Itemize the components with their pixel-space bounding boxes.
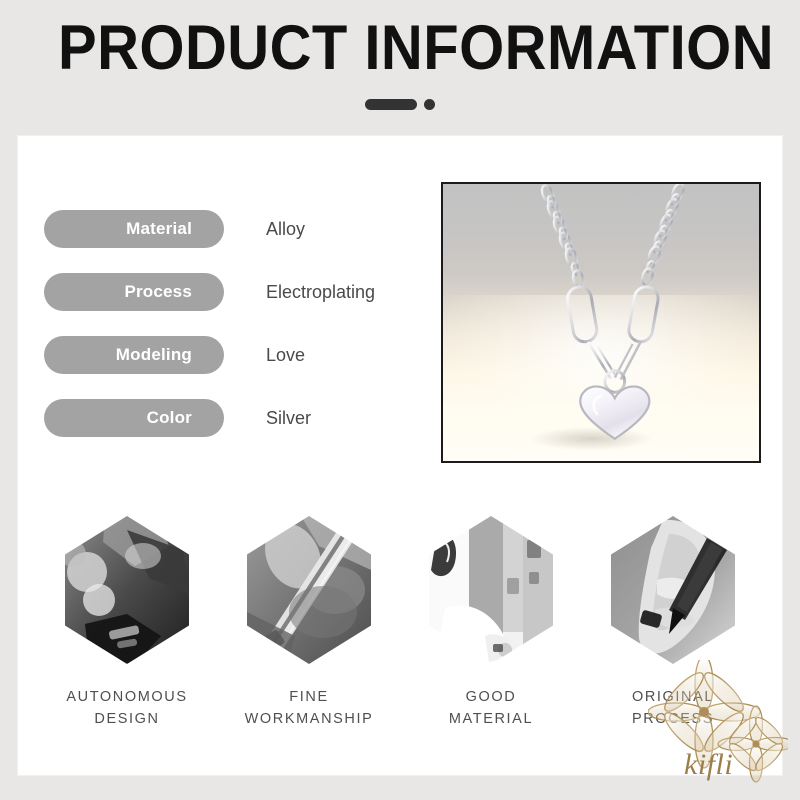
feature-caption-line1: AUTONOMOUS: [66, 686, 187, 708]
feature-caption: AUTONOMOUS DESIGN: [66, 686, 187, 730]
feature-caption: FINE WORKMANSHIP: [245, 686, 374, 730]
hex-original-process: [611, 516, 735, 664]
list-item: FINE WORKMANSHIP: [218, 516, 400, 730]
spec-table: Material Alloy Process Electroplating Mo…: [44, 210, 444, 437]
hand-engraving-pen-photo-icon: [611, 516, 735, 664]
spec-value-process: Electroplating: [266, 282, 375, 303]
page-title: PRODUCT INFORMATION: [58, 16, 774, 80]
feature-caption-line1: FINE: [245, 686, 374, 708]
spec-value-color: Silver: [266, 408, 311, 429]
feature-caption-line2: PROCESS: [632, 708, 714, 730]
table-row: Material Alloy: [44, 210, 444, 248]
spec-label-material: Material: [44, 210, 224, 248]
feature-caption-line1: GOOD: [449, 686, 533, 708]
feature-caption-line2: DESIGN: [66, 708, 187, 730]
feature-list: AUTONOMOUS DESIGN: [36, 516, 764, 730]
divider-bar: [365, 99, 417, 110]
spec-value-modeling: Love: [266, 345, 305, 366]
tweezers-polishing-photo-icon: [247, 516, 371, 664]
feature-caption-line1: ORIGINAL: [632, 686, 714, 708]
divider-dot: [424, 99, 435, 110]
title-divider: [0, 97, 800, 111]
list-item: AUTONOMOUS DESIGN: [36, 516, 218, 730]
jewelry-materials-photo-icon: [429, 516, 553, 664]
table-row: Process Electroplating: [44, 273, 444, 311]
necklace-illustration: [443, 184, 759, 461]
hex-good-material: [429, 516, 553, 664]
feature-caption: GOOD MATERIAL: [449, 686, 533, 730]
table-row: Color Silver: [44, 399, 444, 437]
spec-label-color: Color: [44, 399, 224, 437]
hex-autonomous-design: [65, 516, 189, 664]
table-row: Modeling Love: [44, 336, 444, 374]
spec-label-modeling: Modeling: [44, 336, 224, 374]
hex-fine-workmanship: [247, 516, 371, 664]
spec-value-material: Alloy: [266, 219, 305, 240]
feature-caption-line2: WORKMANSHIP: [245, 708, 374, 730]
feature-caption: ORIGINAL PROCESS: [632, 686, 714, 730]
list-item: ORIGINAL PROCESS: [582, 516, 764, 730]
list-item: GOOD MATERIAL: [400, 516, 582, 730]
feature-caption-line2: MATERIAL: [449, 708, 533, 730]
content-card: Material Alloy Process Electroplating Mo…: [18, 136, 782, 775]
spec-label-process: Process: [44, 273, 224, 311]
product-photo: [441, 182, 761, 463]
craftsman-at-workbench-photo-icon: [65, 516, 189, 664]
